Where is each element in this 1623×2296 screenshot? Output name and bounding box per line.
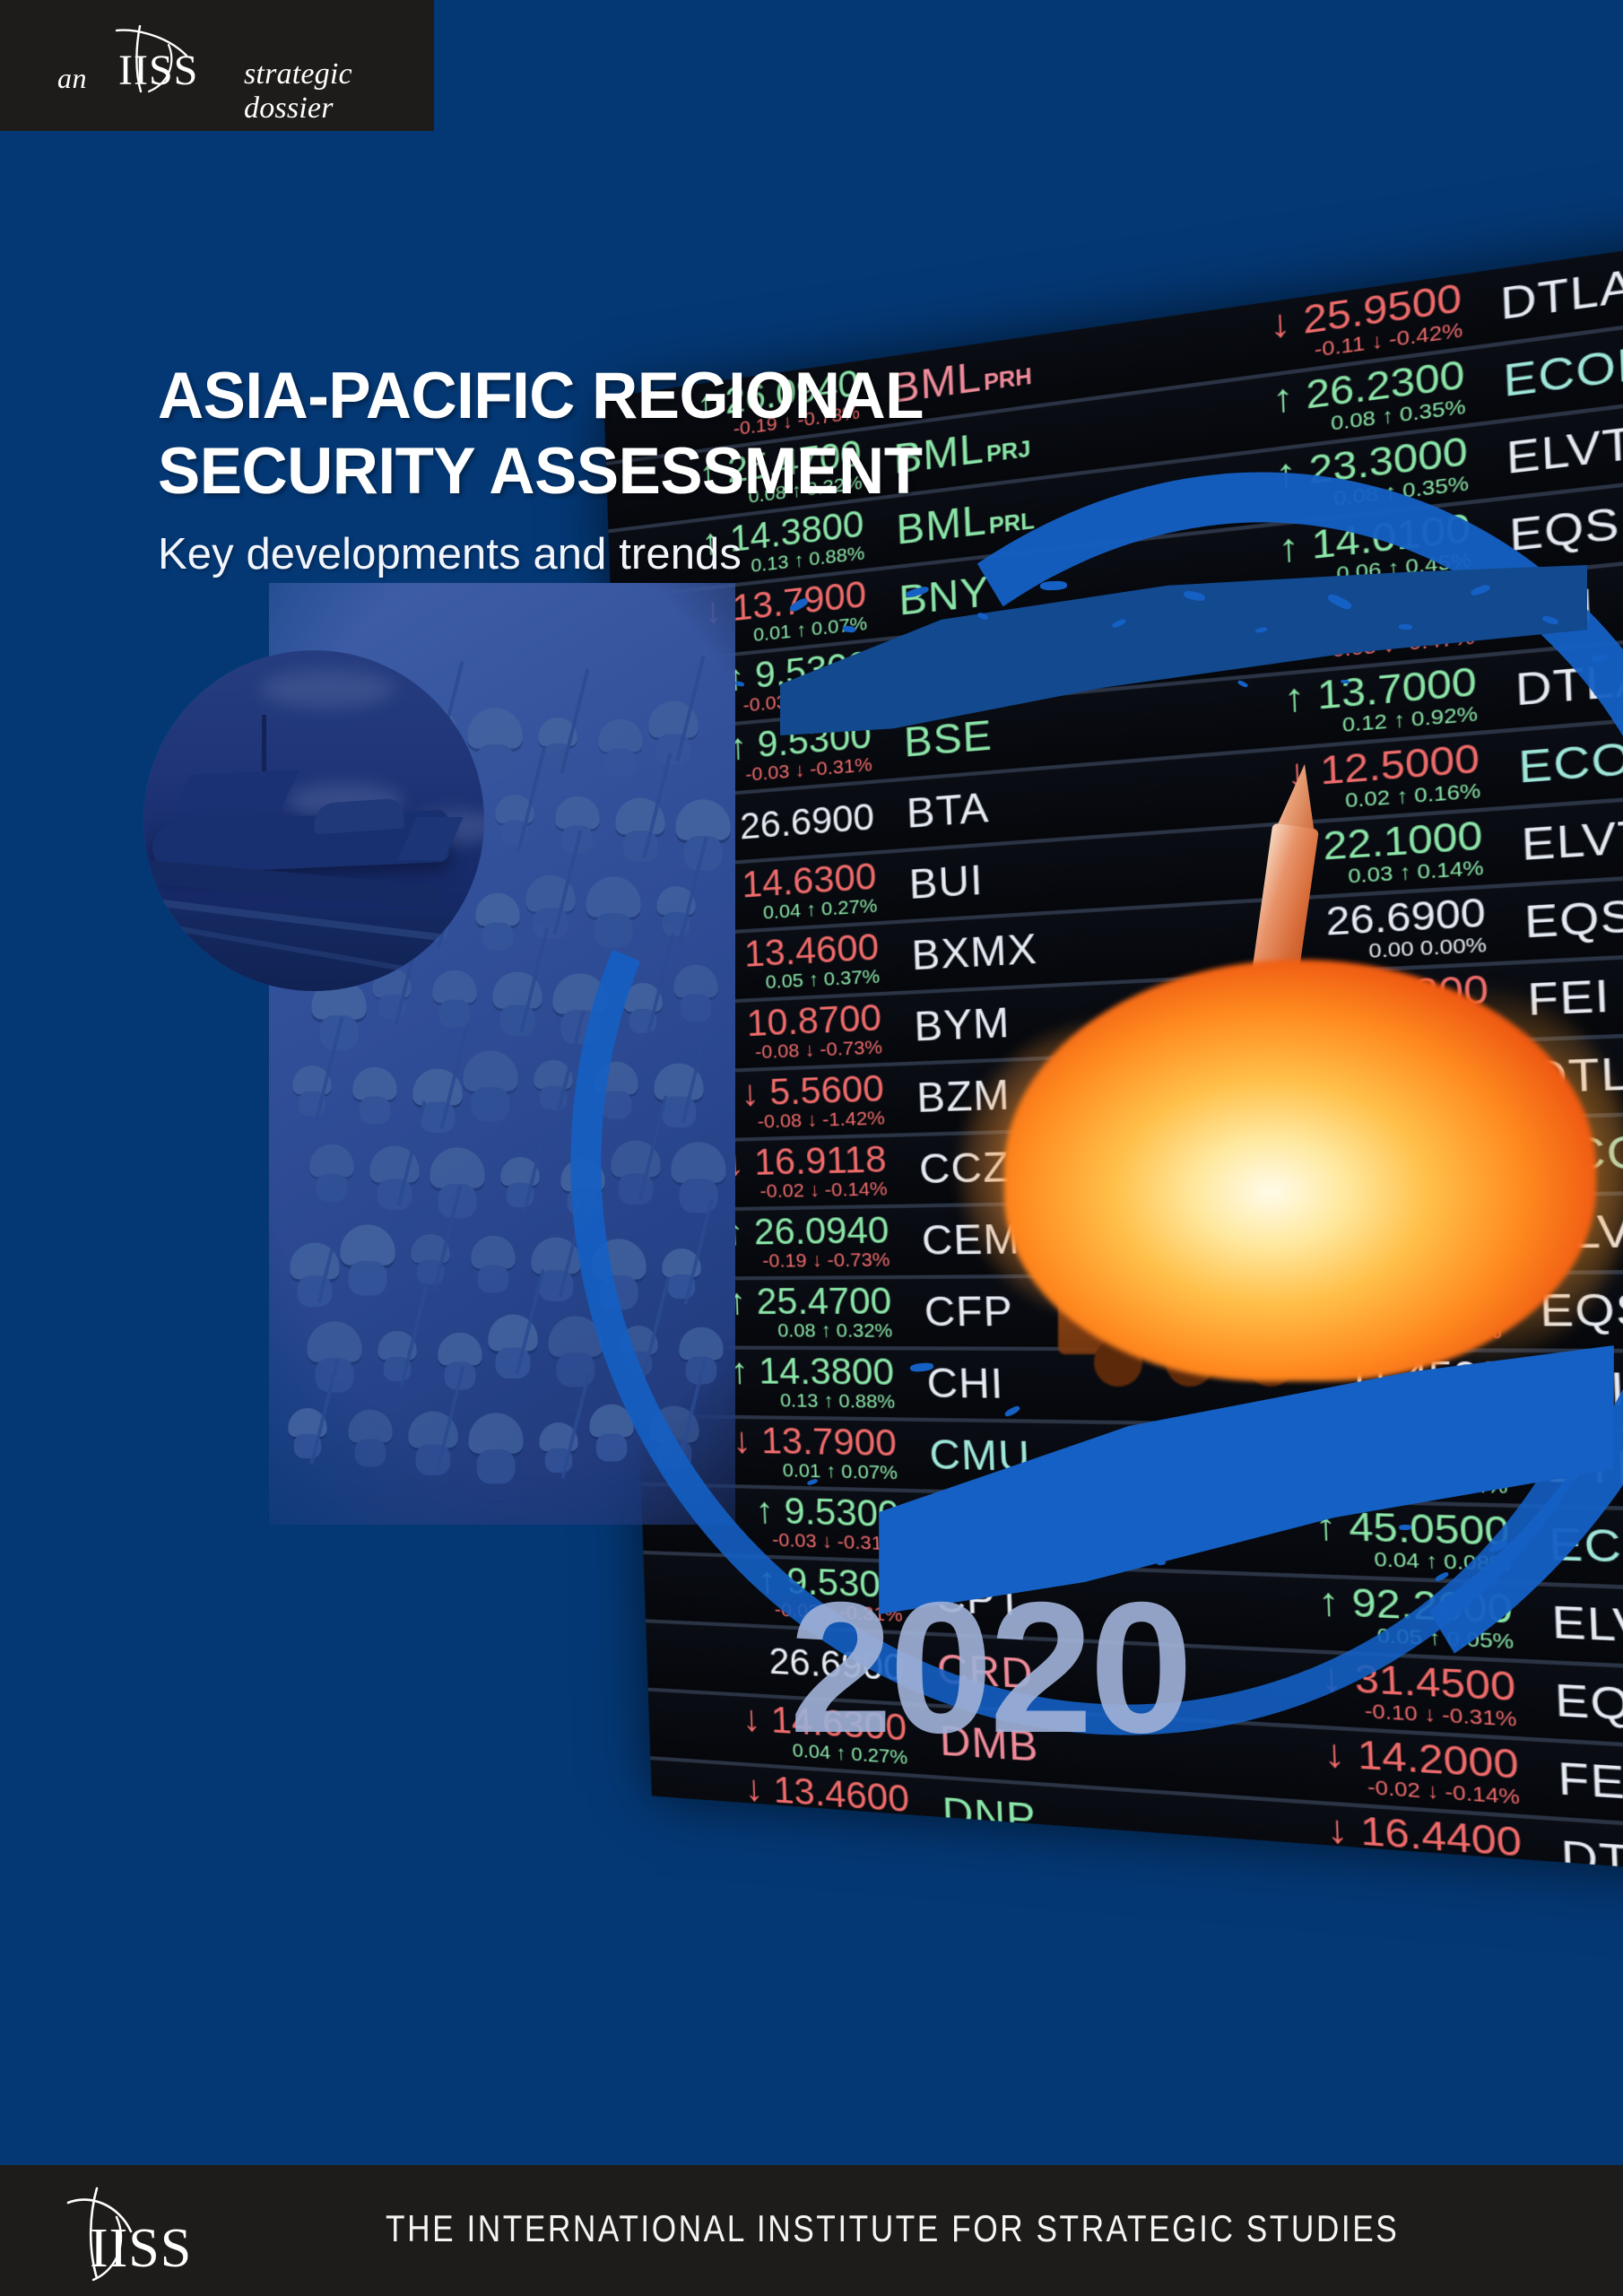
brush-speck	[1341, 680, 1350, 684]
brush-speck	[1399, 1525, 1411, 1530]
ticker-far-symbol-cell: DTLA	[1540, 1833, 1623, 1887]
title-block: ASIA-PACIFIC REGIONAL SECURITY ASSESSMEN…	[158, 359, 1144, 579]
ticker-right-price: ↓ 25.0184-0.04 ↓ -0.16%	[1226, 1877, 1544, 1887]
ticker-symbol: ELVT	[1506, 421, 1623, 483]
ticker-symbol: DNP	[942, 1792, 1037, 1842]
cover-year: 2020	[789, 1575, 1190, 1761]
ticker-symbol: EQS	[1554, 1678, 1623, 1732]
book-cover: an IISS strategic dossier ASIA-PACIFIC R…	[0, 0, 1623, 2296]
ticker-far-symbol-cell: DTLA	[1480, 235, 1623, 332]
ticker-symbol: DTLA	[1560, 1834, 1623, 1886]
ticker-price: ↓ 10.8700	[660, 1832, 912, 1886]
ticker-symbol: DTLA	[1499, 263, 1623, 328]
dossier-an-label: an	[57, 62, 87, 95]
ticker-far-symbol-cell: EQS	[1533, 1677, 1623, 1744]
dossier-banner: an IISS strategic dossier	[0, 0, 434, 131]
ticker-price: ↓ 25.0184	[1226, 1877, 1525, 1887]
page-title-line-2: SECURITY ASSESSMENT	[158, 434, 1115, 509]
ticker-symbol: ELVT	[1551, 1600, 1623, 1653]
ticker-right-price: ↓ 14.2000-0.02 ↓ -0.14%	[1220, 1727, 1539, 1811]
ticker-symbol: DRE	[944, 1864, 1040, 1887]
brush-speck	[1399, 624, 1412, 631]
iiss-logo: IISS	[52, 2185, 213, 2285]
fighter-jet-circle-photo	[143, 650, 484, 991]
ticker-far-symbol-cell: ELVT	[1531, 1599, 1623, 1662]
ticker-far-symbol-cell: FEI	[1537, 1755, 1623, 1826]
dossier-strategic-label: strategic dossier	[244, 57, 421, 126]
ticker-symbol-cell: DNP	[924, 1790, 1226, 1856]
iiss-wordmark: IISS	[90, 2221, 192, 2276]
cover-subtitle: Key developments and trends	[158, 529, 1144, 579]
ticker-symbol: FEI	[1558, 1756, 1623, 1809]
ticker-left-price: ↓ 10.8700-0.08 ↓ -0.73%	[660, 1832, 929, 1886]
cover-artwork-collage: ↑ 26.0940-0.19 ↓ -0.73%BMLPRH↓ 25.9500-0…	[0, 574, 1623, 1578]
footer-strapline: THE INTERNATIONAL INSTITUTE FOR STRATEGI…	[386, 2208, 1399, 2249]
ticker-symbol: ECOM	[1503, 338, 1623, 405]
page-title-line-1: ASIA-PACIFIC REGIONAL	[158, 359, 1115, 434]
ticker-symbol: EQS	[1508, 501, 1620, 561]
jet-blue-duotone-tint	[143, 650, 484, 991]
dossier-banner-content: an IISS strategic dossier	[45, 20, 421, 109]
footer-bar: IISS THE INTERNATIONAL INSTITUTE FOR STR…	[0, 2165, 1623, 2296]
ticker-left-price: ↓ 13.46000.05 ↑ 0.37%	[657, 1764, 925, 1842]
ticker-change: -0.08 ↓ -0.73%	[662, 1869, 914, 1887]
ticker-symbol-cell: DREPRB	[927, 1862, 1228, 1887]
iiss-wordmark: IISS	[118, 46, 198, 95]
